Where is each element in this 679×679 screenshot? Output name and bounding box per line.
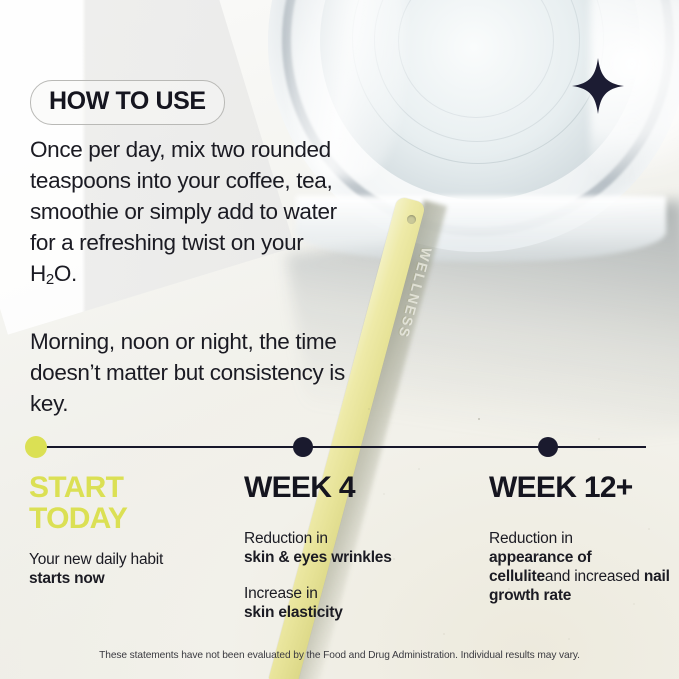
milestone-week-12: WEEK 12+ Reduction in appearance of cell… [489,472,674,605]
instructions-paragraph-2: Morning, noon or night, the time doesn’t… [30,326,350,419]
milestone-title: START TODAY [29,472,224,534]
milestone-benefit: Reduction in skin & eyes wrinkles [244,529,469,567]
benefit-lead: Reduction in [244,529,469,548]
benefit-strong: skin & eyes wrinkles [244,548,469,567]
instructions-block: Once per day, mix two rounded teaspoons … [30,134,350,419]
milestone-title: WEEK 12+ [489,472,674,503]
instructions-paragraph-1: Once per day, mix two rounded teaspoons … [30,134,350,295]
milestone-week-4: WEEK 4 Reduction in skin & eyes wrinkles… [244,472,469,622]
milestone-benefit: Your new daily habit starts now [29,550,224,588]
how-to-use-badge: HOW TO USE [30,80,225,125]
milestone-benefit: Reduction in appearance of celluliteand … [489,529,674,605]
milestone-start-today: START TODAY Your new daily habit starts … [29,472,224,588]
how-to-use-label: HOW TO USE [49,89,206,114]
timeline-dot-week-12 [538,437,558,457]
milestone-benefit: Increase in skin elasticity [244,584,469,622]
benefit-lead: Your new daily habit [29,550,224,569]
timeline-dot-start-today [25,436,47,458]
infographic-canvas: WELLNESS HOW TO USE Once per day, mix tw… [0,0,679,679]
timeline-dot-week-4 [293,437,313,457]
benefit-strong: skin elasticity [244,603,469,622]
h2o-subscript: 2 [46,271,54,288]
benefit-lead: Increase in [244,584,469,603]
benefit-strong: starts now [29,569,224,588]
benefit-lead: Reduction in [489,529,674,548]
milestone-title: WEEK 4 [244,472,469,503]
benefit-tail-lead: and increased [545,568,644,585]
content-layer: HOW TO USE Once per day, mix two rounded… [0,0,679,679]
instructions-paragraph-1-tail: O. [54,261,77,286]
fda-disclaimer: These statements have not been evaluated… [0,650,679,661]
